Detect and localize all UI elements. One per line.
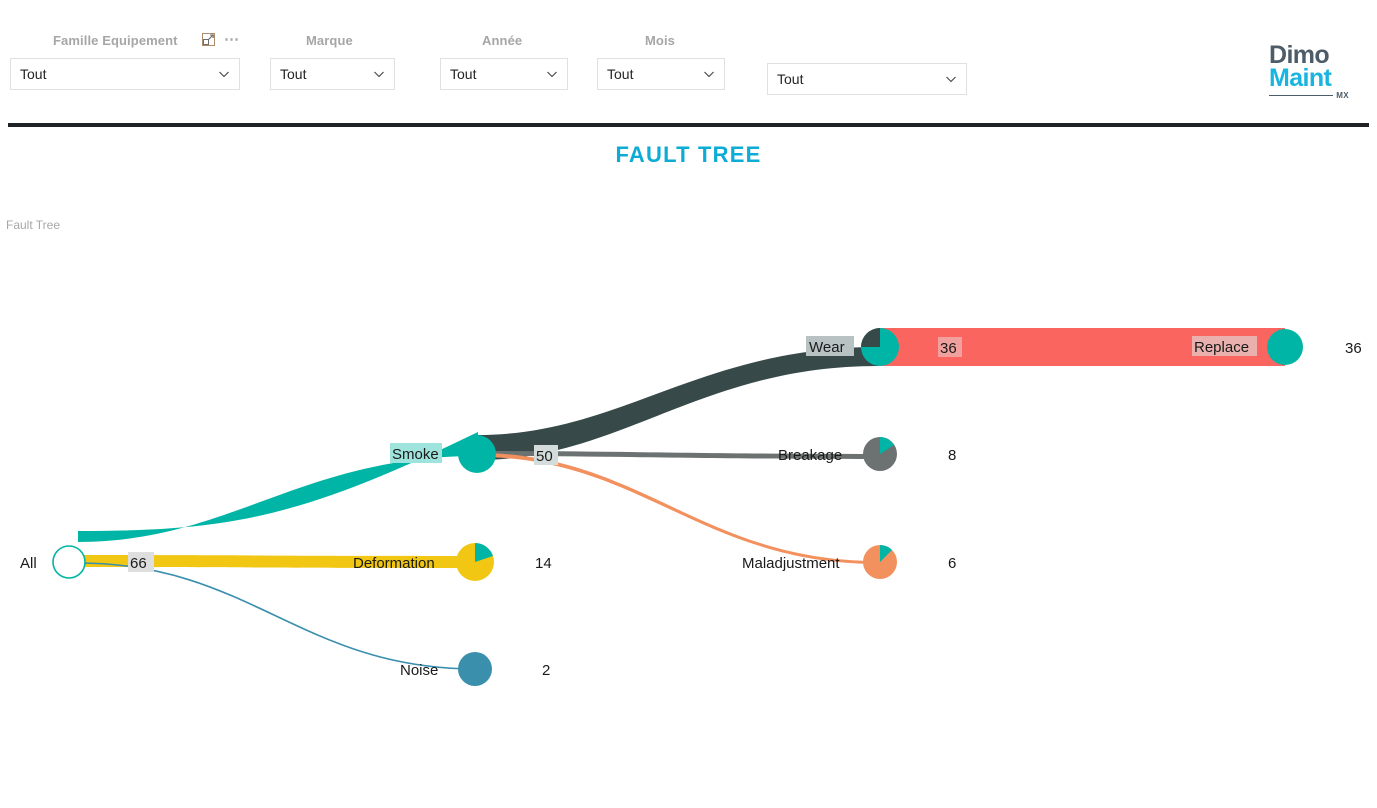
slicer-value-mois: Tout [607, 66, 702, 82]
logo-rule [1269, 95, 1333, 97]
node-breakage[interactable] [863, 437, 897, 471]
filter-label-annee: Année [482, 33, 522, 48]
value-label-noise: 2 [542, 662, 550, 679]
link-smoke-maladjustment[interactable] [478, 453, 876, 564]
slicer-famille-equipement[interactable]: Tout [10, 58, 240, 90]
value-label-deformation: 14 [535, 555, 552, 572]
filter-label-famille-equipement: Famille Equipement [53, 33, 178, 48]
node-wear[interactable] [861, 328, 899, 366]
chevron-down-icon[interactable] [545, 67, 559, 81]
chevron-down-icon[interactable] [372, 67, 386, 81]
logo-suffix-mx: MX [1336, 92, 1349, 99]
slicer-mois[interactable]: Tout [597, 58, 725, 90]
focus-mode-icon[interactable] [202, 33, 215, 46]
node-label-smoke: Smoke [392, 446, 439, 463]
node-noise[interactable] [458, 652, 492, 686]
node-all[interactable] [53, 546, 85, 578]
sankey-links [78, 328, 1285, 669]
sankey-value-labels: 36 8 14 6 2 [535, 340, 1362, 679]
dimo-maint-logo: Dimo Maint MX [1269, 44, 1349, 99]
flow-label-50: 50 [536, 448, 553, 465]
link-smoke-wear[interactable] [478, 347, 878, 460]
filter-label-mois: Mois [645, 33, 675, 48]
chevron-down-icon[interactable] [217, 67, 231, 81]
filter-label-marque: Marque [306, 33, 353, 48]
sankey-node-labels: All Wear Smoke Breakage Deformation Mala… [20, 336, 1257, 679]
slicer-value-annee: Tout [450, 66, 545, 82]
famille-equipement-header-icons: ⋯ [202, 33, 240, 46]
node-label-noise: Noise [400, 662, 438, 679]
logo-line-maint: Maint [1269, 67, 1349, 90]
flow-label-36: 36 [940, 340, 957, 357]
value-label-maladjustment: 6 [948, 555, 956, 572]
node-deformation[interactable] [456, 543, 494, 581]
slicer-marque[interactable]: Tout [270, 58, 395, 90]
value-label-replace: 36 [1345, 340, 1362, 357]
header-separator [8, 123, 1369, 127]
slicer-value-famille-equipement: Tout [20, 66, 217, 82]
value-label-breakage: 8 [948, 447, 956, 464]
node-label-all: All [20, 555, 37, 572]
slicer-value-marque: Tout [280, 66, 372, 82]
page-title: FAULT TREE [0, 142, 1377, 168]
node-label-deformation: Deformation [353, 555, 435, 572]
node-label-replace: Replace [1194, 339, 1249, 356]
more-options-icon[interactable]: ⋯ [224, 36, 240, 44]
sankey-nodes [53, 328, 1303, 686]
chevron-down-icon[interactable] [944, 72, 958, 86]
link-all-noise[interactable] [78, 563, 474, 669]
node-label-maladjustment: Maladjustment [742, 555, 840, 572]
flow-label-66: 66 [130, 555, 147, 572]
slicer-extra[interactable]: Tout [767, 63, 967, 95]
node-label-wear: Wear [809, 339, 845, 356]
breadcrumb: Fault Tree [6, 218, 60, 232]
logo-suffix-row: MX [1269, 92, 1349, 99]
node-maladjustment[interactable] [863, 545, 897, 579]
filter-bar: Famille Equipement ⋯ Tout Marque Tout An… [0, 0, 1377, 118]
fault-tree-sankey-chart[interactable]: All Wear Smoke Breakage Deformation Mala… [0, 250, 1377, 750]
slicer-annee[interactable]: Tout [440, 58, 568, 90]
slicer-value-extra: Tout [777, 71, 944, 87]
node-label-breakage: Breakage [778, 447, 842, 464]
chevron-down-icon[interactable] [702, 67, 716, 81]
node-smoke[interactable] [458, 435, 496, 473]
node-replace[interactable] [1267, 329, 1303, 365]
